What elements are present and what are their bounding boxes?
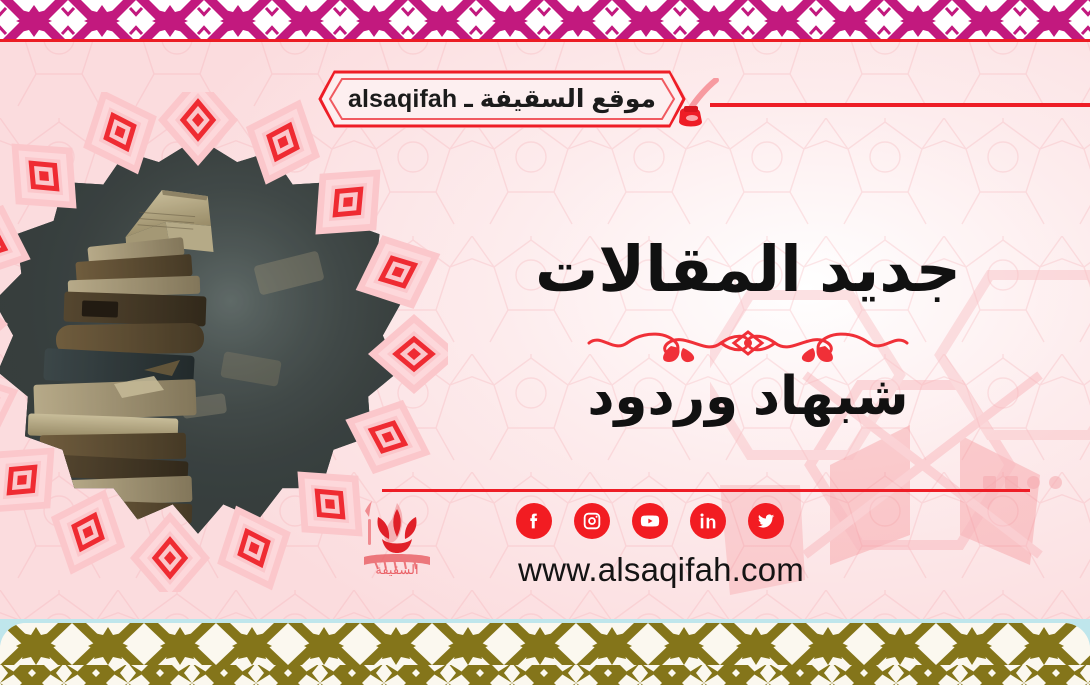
social-links — [516, 503, 784, 539]
facebook-icon[interactable] — [516, 503, 552, 539]
footer-block: السقيفة www.alsaqifah.com — [350, 489, 1030, 599]
banner-canvas: موقع السقيفة ـ alsaqifah جديد المقالات — [0, 0, 1090, 685]
linkedin-icon[interactable] — [690, 503, 726, 539]
footer-rule — [382, 489, 1030, 492]
top-ornament-band — [0, 0, 1090, 42]
ornamental-divider-icon — [583, 322, 913, 364]
instagram-icon[interactable] — [574, 503, 610, 539]
site-logo[interactable]: السقيفة — [356, 495, 438, 579]
site-badge[interactable]: موقع السقيفة ـ alsaqifah — [318, 70, 686, 128]
badge-rule — [710, 103, 1090, 107]
site-badge-label: موقع السقيفة ـ alsaqifah — [348, 84, 656, 114]
youtube-icon[interactable] — [632, 503, 668, 539]
logo-caption: السقيفة — [375, 562, 418, 577]
site-url[interactable]: www.alsaqifah.com — [518, 551, 804, 589]
top-band-rule — [0, 39, 1090, 42]
page-subtitle: شبهاد وردود — [468, 368, 1028, 426]
site-badge-row: موقع السقيفة ـ alsaqifah — [318, 70, 1090, 130]
bottom-ornament-band — [0, 623, 1090, 685]
twitter-icon[interactable] — [748, 503, 784, 539]
decorative-dots — [983, 476, 1062, 489]
page-title: جديد المقالات — [468, 236, 1028, 304]
headline-block: جديد المقالات — [468, 236, 1028, 426]
